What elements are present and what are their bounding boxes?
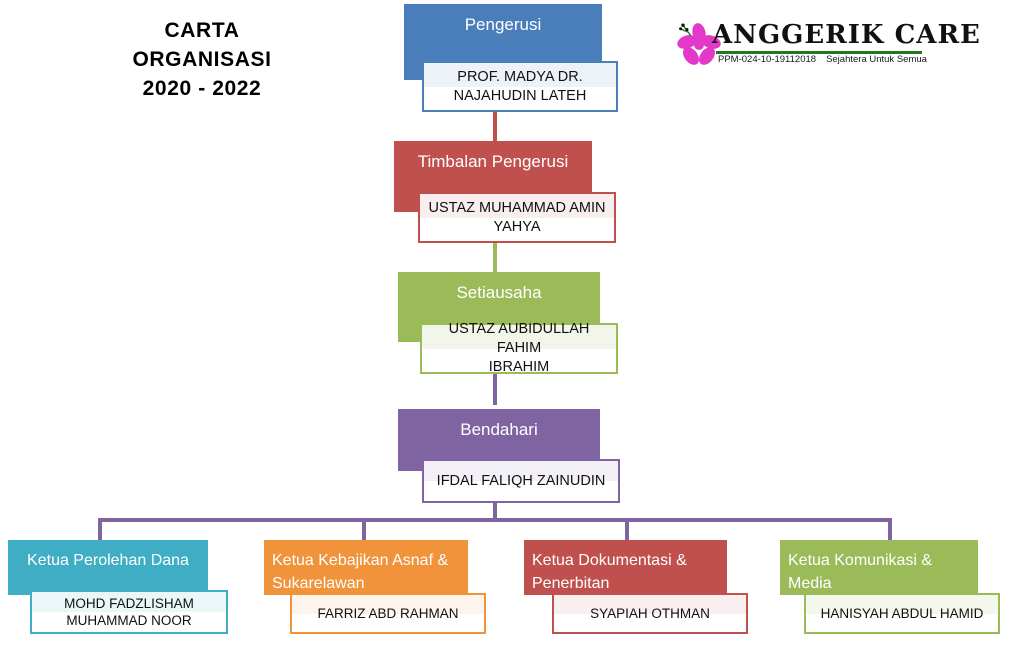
node-bendahari-name-line-1: IFDAL FALIQH ZAINUDIN: [437, 472, 606, 491]
node-setiausaha-name-line-2: IBRAHIM: [489, 358, 549, 377]
node-ketua-komunikasi-media-role-box[interactable]: Ketua Komunikasi & Media: [780, 540, 978, 595]
node-timbalan-pengerusi[interactable]: Timbalan Pengerusi USTAZ MUHAMMAD AMIN Y…: [394, 141, 620, 245]
node-bendahari-role: Bendahari: [460, 418, 538, 441]
connector-timbalan-to-setiausaha: [493, 242, 497, 275]
node-ketua-komunikasi-media-name-box[interactable]: HANISYAH ABDUL HAMID: [804, 593, 1000, 634]
node-ketua-perolehan-dana-role-box[interactable]: Ketua Perolehan Dana: [8, 540, 208, 595]
node-ketua-komunikasi-media-role-line-1: Ketua Komunikasi &: [788, 549, 932, 572]
title-line-2: ORGANISASI: [62, 45, 342, 74]
node-setiausaha-role: Setiausaha: [456, 281, 541, 304]
node-pengerusi-name-line-1: PROF. MADYA DR.: [457, 68, 582, 87]
logo-wordmark: ANGGERIK CARE: [712, 20, 981, 50]
node-ketua-dokumentasi-penerbitan-role-box[interactable]: Ketua Dokumentasi & Penerbitan: [524, 540, 727, 595]
node-timbalan-pengerusi-role: Timbalan Pengerusi: [418, 150, 569, 173]
logo-registration: PPM-024-10-19112018: [718, 54, 816, 65]
node-ketua-komunikasi-media[interactable]: Ketua Komunikasi & Media HANISYAH ABDUL …: [780, 540, 1002, 634]
node-ketua-komunikasi-media-role-line-2: Media: [788, 572, 832, 595]
node-ketua-dokumentasi-penerbitan-role-line-2: Penerbitan: [532, 572, 609, 595]
connector-bottom-bus: [98, 518, 892, 522]
node-ketua-perolehan-dana[interactable]: Ketua Perolehan Dana MOHD FADZLISHAM MUH…: [8, 540, 230, 634]
node-setiausaha-name-box[interactable]: USTAZ AUBIDULLAH FAHIM IBRAHIM: [420, 323, 618, 374]
node-pengerusi-name-box[interactable]: PROF. MADYA DR. NAJAHUDIN LATEH: [422, 61, 618, 112]
node-timbalan-pengerusi-name-line-1: USTAZ MUHAMMAD AMIN: [429, 199, 606, 218]
title-line-1: CARTA: [62, 16, 342, 45]
node-ketua-dokumentasi-penerbitan-name-line-1: SYAPIAH OTHMAN: [590, 604, 710, 623]
node-setiausaha[interactable]: Setiausaha USTAZ AUBIDULLAH FAHIM IBRAHI…: [398, 272, 622, 376]
node-ketua-kebajikan-asnaf-sukarelawan-name-line-1: FARRIZ ABD RAHMAN: [317, 604, 458, 623]
node-ketua-komunikasi-media-name-line-1: HANISYAH ABDUL HAMID: [821, 604, 984, 623]
node-ketua-dokumentasi-penerbitan-role-line-1: Ketua Dokumentasi &: [532, 549, 687, 572]
page-title: CARTA ORGANISASI 2020 - 2022: [62, 16, 342, 103]
node-timbalan-pengerusi-name-line-2: YAHYA: [493, 218, 540, 237]
node-ketua-kebajikan-asnaf-sukarelawan[interactable]: Ketua Kebajikan Asnaf & Sukarelawan FARR…: [264, 540, 486, 634]
node-ketua-perolehan-dana-name-line-1: MOHD FADZLISHAM: [64, 595, 194, 612]
node-timbalan-pengerusi-name-box[interactable]: USTAZ MUHAMMAD AMIN YAHYA: [418, 192, 616, 243]
node-pengerusi-name-line-2: NAJAHUDIN LATEH: [454, 87, 587, 106]
node-ketua-kebajikan-asnaf-sukarelawan-role-line-1: Ketua Kebajikan Asnaf &: [272, 549, 448, 572]
title-line-3: 2020 - 2022: [62, 74, 342, 103]
node-ketua-kebajikan-asnaf-sukarelawan-role-line-2: Sukarelawan: [272, 572, 365, 595]
node-setiausaha-name-line-1: USTAZ AUBIDULLAH FAHIM: [428, 320, 610, 358]
node-bendahari[interactable]: Bendahari IFDAL FALIQH ZAINUDIN: [398, 409, 624, 505]
node-ketua-perolehan-dana-name-line-2: MUHAMMAD NOOR: [66, 612, 191, 629]
node-ketua-perolehan-dana-name-box[interactable]: MOHD FADZLISHAM MUHAMMAD NOOR: [30, 590, 228, 634]
node-ketua-kebajikan-asnaf-sukarelawan-role-box[interactable]: Ketua Kebajikan Asnaf & Sukarelawan: [264, 540, 468, 595]
logo-subtext: PPM-024-10-19112018Sejahtera Untuk Semua: [718, 54, 927, 65]
node-pengerusi-role: Pengerusi: [465, 13, 542, 36]
node-bendahari-name-box[interactable]: IFDAL FALIQH ZAINUDIN: [422, 459, 620, 503]
organization-chart: CARTA ORGANISASI 2020 - 2022: [0, 0, 1009, 645]
node-ketua-kebajikan-asnaf-sukarelawan-name-box[interactable]: FARRIZ ABD RAHMAN: [290, 593, 486, 634]
logo-tagline: Sejahtera Untuk Semua: [826, 54, 927, 65]
node-ketua-dokumentasi-penerbitan[interactable]: Ketua Dokumentasi & Penerbitan SYAPIAH O…: [524, 540, 750, 634]
anggerik-care-logo: ANGGERIK CARE PPM-024-10-19112018Sejahte…: [676, 18, 926, 72]
node-pengerusi[interactable]: Pengerusi PROF. MADYA DR. NAJAHUDIN LATE…: [404, 4, 618, 114]
node-ketua-dokumentasi-penerbitan-name-box[interactable]: SYAPIAH OTHMAN: [552, 593, 748, 634]
node-ketua-perolehan-dana-role: Ketua Perolehan Dana: [27, 549, 189, 572]
